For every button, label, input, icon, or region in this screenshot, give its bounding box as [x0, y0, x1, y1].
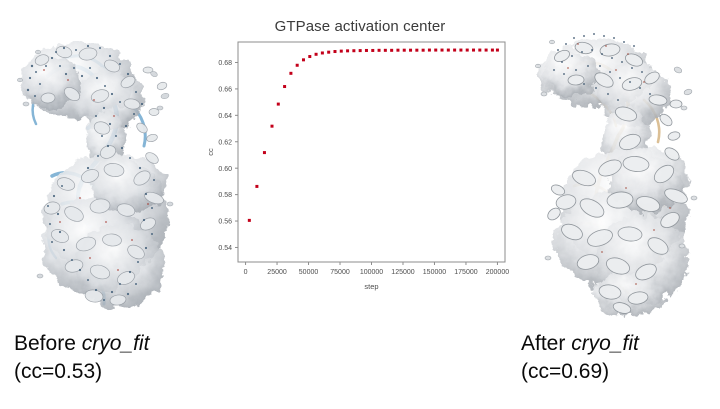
x-axis-title: step: [364, 282, 378, 291]
y-tick-label: 0.62: [218, 139, 232, 146]
data-point: [459, 49, 462, 52]
caption-before-emphasis: cryo_fit: [82, 332, 150, 355]
data-point: [333, 50, 336, 53]
y-tick-label: 0.58: [218, 192, 232, 199]
cc-vs-step-scatter-plot: 0.540.560.580.600.620.640.660.68 0250005…: [205, 40, 515, 296]
x-tick-label: 150000: [423, 269, 446, 276]
y-tick-label: 0.68: [218, 60, 232, 67]
caption-before-cc: (cc=0.53): [14, 358, 149, 386]
data-point: [346, 49, 349, 52]
data-point: [447, 49, 450, 52]
cryoem-density-map-after-icon: [518, 8, 718, 320]
data-point: [315, 53, 318, 56]
data-point: [378, 49, 381, 52]
x-tick-label: 25000: [267, 269, 287, 276]
chart-panel: GTPase activation center 0.540.560.580.6…: [205, 10, 515, 298]
data-point: [371, 49, 374, 52]
y-axis-title: cc: [206, 148, 215, 156]
data-point: [472, 49, 475, 52]
data-point: [409, 49, 412, 52]
x-tick-label: 75000: [330, 269, 350, 276]
data-markers: [248, 49, 499, 222]
y-axis-ticks: 0.540.560.580.600.620.640.660.68: [218, 60, 238, 252]
plot-frame: [238, 42, 505, 262]
data-point: [384, 49, 387, 52]
caption-after: After cryo_fit (cc=0.69): [521, 330, 639, 386]
data-point: [415, 49, 418, 52]
data-point: [327, 51, 330, 54]
data-point: [422, 49, 425, 52]
data-point: [352, 49, 355, 52]
x-tick-label: 175000: [454, 269, 477, 276]
data-point: [390, 49, 393, 52]
caption-after-cc: (cc=0.69): [521, 358, 639, 386]
data-point: [263, 151, 266, 154]
data-point: [248, 219, 251, 222]
data-point: [359, 49, 362, 52]
chart-title: GTPase activation center: [205, 18, 515, 35]
data-point: [296, 64, 299, 67]
caption-before-prefix: Before: [14, 332, 82, 355]
x-tick-label: 100000: [360, 269, 383, 276]
x-tick-label: 125000: [391, 269, 414, 276]
data-point: [434, 49, 437, 52]
caption-after-emphasis: cryo_fit: [571, 332, 639, 355]
data-point: [321, 51, 324, 54]
data-point: [365, 49, 368, 52]
data-point: [485, 49, 488, 52]
structure-panel-before: [2, 8, 202, 320]
y-tick-label: 0.56: [218, 219, 232, 226]
data-point: [466, 49, 469, 52]
x-axis-ticks: 0250005000075000100000125000150000175000…: [244, 262, 510, 276]
data-point: [283, 85, 286, 88]
caption-after-prefix: After: [521, 332, 571, 355]
data-point: [302, 58, 305, 61]
data-point: [289, 72, 292, 75]
cryoem-density-map-before-icon: [2, 8, 202, 320]
data-point: [271, 125, 274, 128]
y-tick-label: 0.60: [218, 166, 232, 173]
caption-before: Before cryo_fit (cc=0.53): [14, 330, 149, 386]
data-point: [308, 55, 311, 58]
data-point: [396, 49, 399, 52]
data-point: [255, 185, 258, 188]
data-point: [478, 49, 481, 52]
data-point: [453, 49, 456, 52]
data-point: [441, 49, 444, 52]
data-point: [403, 49, 406, 52]
y-tick-label: 0.66: [218, 87, 232, 94]
structure-panel-after: [518, 8, 718, 320]
data-point: [340, 50, 343, 53]
y-tick-label: 0.64: [218, 113, 232, 120]
y-tick-label: 0.54: [218, 245, 232, 252]
x-tick-label: 0: [244, 269, 248, 276]
x-tick-label: 200000: [486, 269, 509, 276]
x-tick-label: 50000: [299, 269, 319, 276]
data-point: [277, 103, 280, 106]
data-point: [491, 49, 494, 52]
data-point: [428, 49, 431, 52]
data-point: [496, 49, 499, 52]
